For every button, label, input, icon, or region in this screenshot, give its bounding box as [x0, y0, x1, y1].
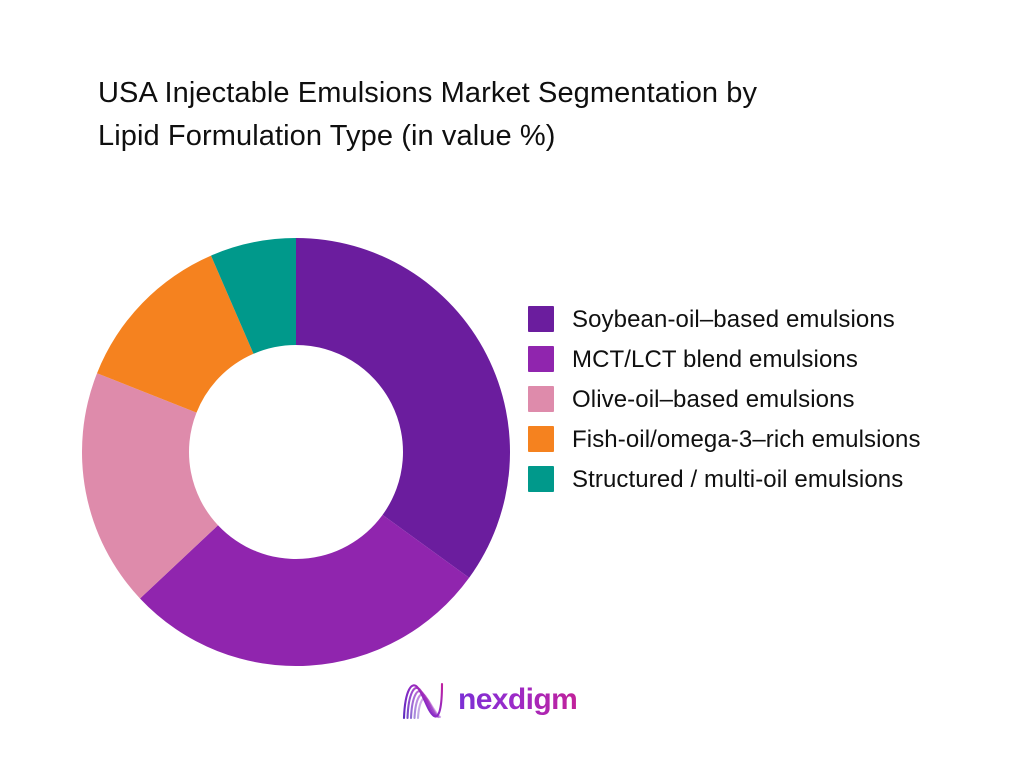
legend-item[interactable]: MCT/LCT blend emulsions: [528, 342, 1008, 377]
donut-slice-group: [82, 238, 510, 666]
legend-color-swatch: [528, 426, 554, 452]
legend-label: Structured / multi-oil emulsions: [572, 462, 903, 497]
legend-label: Soybean-oil–based emulsions: [572, 302, 895, 337]
legend-item[interactable]: Structured / multi-oil emulsions: [528, 462, 1008, 497]
legend-color-swatch: [528, 466, 554, 492]
brand-wordmark: nexdigm: [458, 685, 577, 715]
donut-slice[interactable]: [296, 238, 510, 578]
legend-color-swatch: [528, 306, 554, 332]
legend-item[interactable]: Soybean-oil–based emulsions: [528, 302, 1008, 337]
nexdigm-wave-n-icon: [400, 678, 446, 722]
legend-label: Olive-oil–based emulsions: [572, 382, 855, 417]
donut-chart: [82, 238, 510, 666]
page-title: USA Injectable Emulsions Market Segmenta…: [98, 72, 958, 158]
legend-label: MCT/LCT blend emulsions: [572, 342, 858, 377]
legend-color-swatch: [528, 386, 554, 412]
chart-legend: Soybean-oil–based emulsionsMCT/LCT blend…: [528, 302, 1008, 502]
legend-item[interactable]: Olive-oil–based emulsions: [528, 382, 1008, 417]
donut-chart-svg: [82, 238, 510, 666]
legend-color-swatch: [528, 346, 554, 372]
legend-item[interactable]: Fish-oil/omega-3–rich emulsions: [528, 422, 1008, 457]
legend-label: Fish-oil/omega-3–rich emulsions: [572, 422, 921, 457]
brand-logo: nexdigm: [400, 676, 577, 724]
